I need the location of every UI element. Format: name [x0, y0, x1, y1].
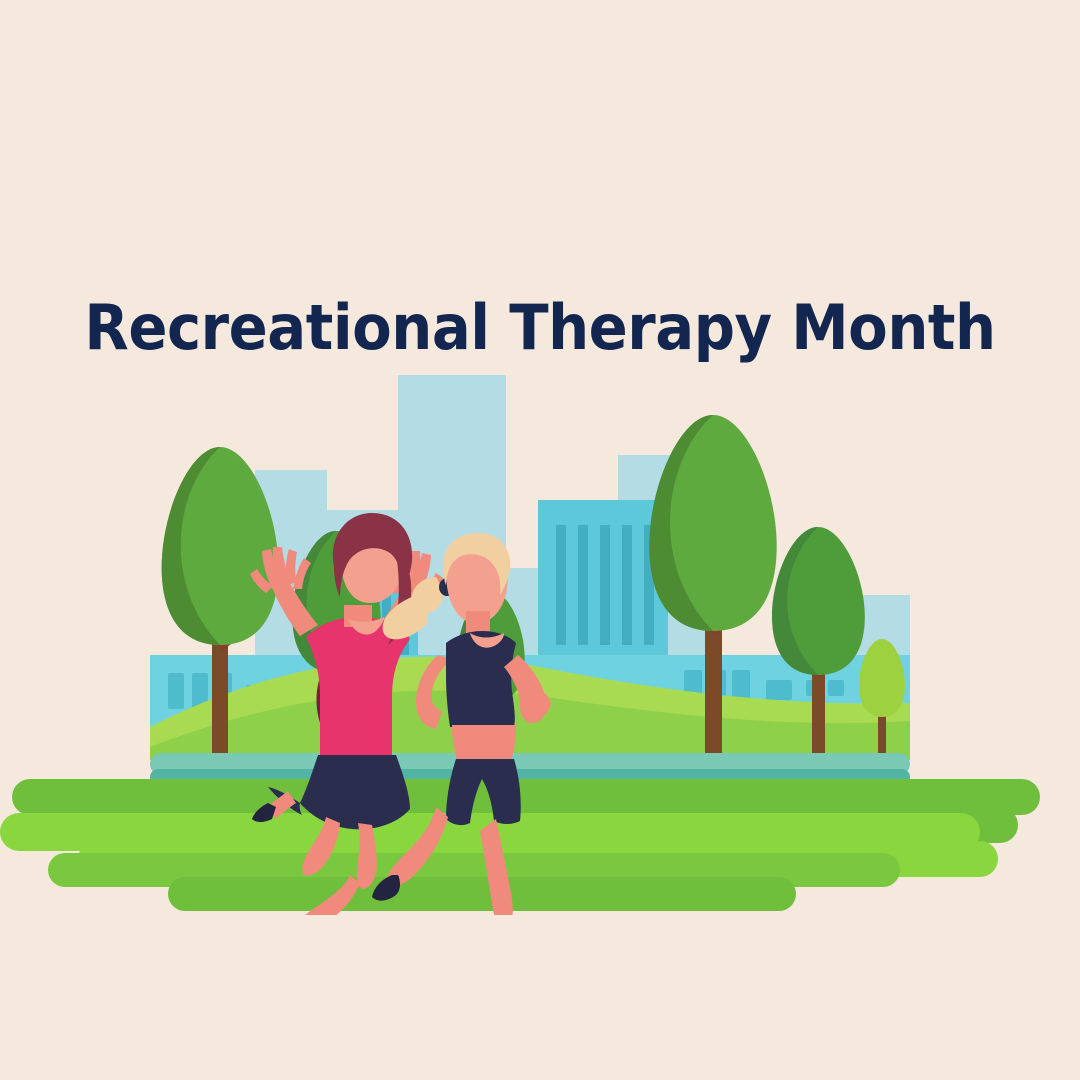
- park-scene-illustration: [0, 355, 1080, 915]
- grass-band-6: [168, 877, 796, 911]
- running-woman-midriff: [452, 725, 516, 763]
- page-title: Recreational Therapy Month: [38, 297, 1042, 359]
- poster-canvas: Recreational Therapy Month: [0, 0, 1080, 1080]
